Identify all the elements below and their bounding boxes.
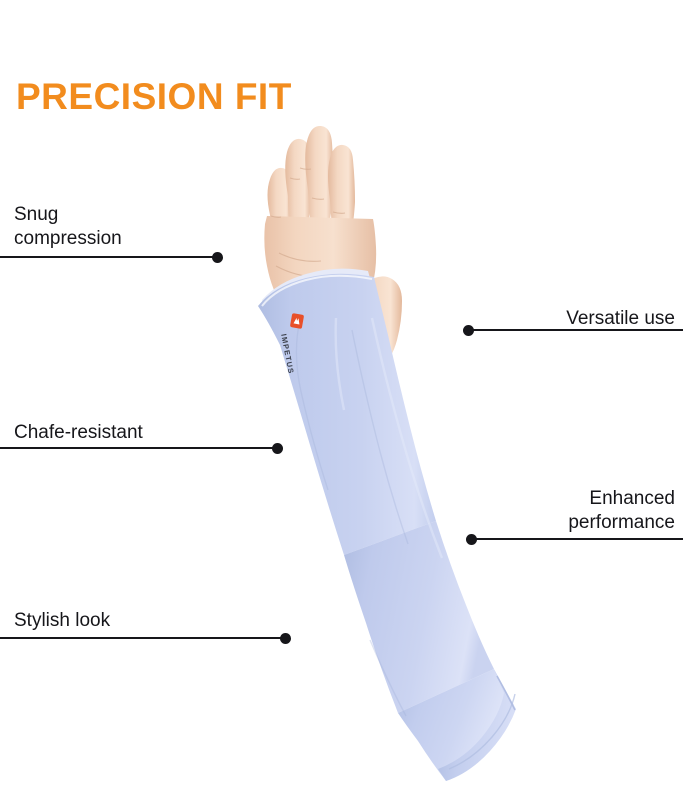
callout-label-chafe-resistant: Chafe-resistant (14, 421, 254, 445)
callout-label-versatile-use: Versatile use (375, 307, 675, 331)
brand-wordmark: IMPETUS (279, 333, 296, 375)
connector-line-stylish-look (0, 637, 286, 639)
connector-dot-stylish-look (280, 633, 291, 644)
connector-line-enhanced-performance (473, 538, 683, 540)
connector-line-versatile-use (470, 329, 683, 331)
callout-label-stylish-look: Stylish look (14, 609, 234, 633)
callout-label-snug-compression: Snug compression (14, 203, 214, 252)
connector-dot-chafe-resistant (272, 443, 283, 454)
connector-line-chafe-resistant (0, 447, 278, 449)
product-infographic: PRECISION FIT (0, 0, 683, 800)
arm-sleeve-illustration (0, 0, 683, 800)
connector-dot-versatile-use (463, 325, 474, 336)
callout-label-enhanced-performance: Enhanced performance (335, 487, 675, 536)
brand-mark-icon (292, 316, 301, 326)
brand-logo-badge (290, 313, 304, 329)
connector-dot-snug-compression (212, 252, 223, 263)
connector-line-snug-compression (0, 256, 218, 258)
connector-dot-enhanced-performance (466, 534, 477, 545)
page-title: PRECISION FIT (16, 78, 292, 115)
